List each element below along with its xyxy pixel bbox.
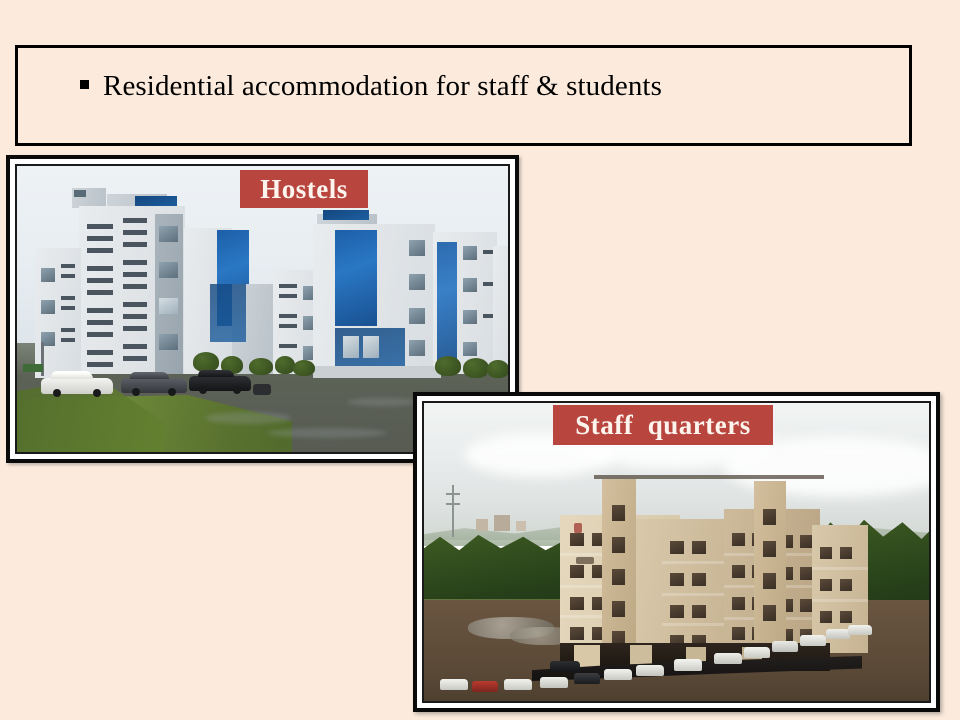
shrub bbox=[293, 360, 315, 376]
shrub bbox=[487, 360, 508, 378]
shrub bbox=[249, 358, 273, 375]
car bbox=[800, 635, 826, 646]
pylon-arm bbox=[446, 493, 460, 495]
car bbox=[826, 629, 850, 639]
stairwell-tower bbox=[754, 481, 786, 659]
shrub bbox=[435, 356, 461, 376]
entry-glazing bbox=[210, 284, 246, 342]
car bbox=[744, 647, 770, 658]
header-text-box: Residential accommodation for staff & st… bbox=[15, 45, 912, 146]
slide-canvas: Residential accommodation for staff & st… bbox=[0, 0, 960, 720]
header-bullet-line: Residential accommodation for staff & st… bbox=[80, 70, 662, 103]
caption-hostels: Hostels bbox=[240, 170, 368, 208]
car-red bbox=[472, 681, 498, 692]
car bbox=[550, 661, 580, 672]
stairwell-tower bbox=[602, 479, 636, 663]
square-bullet-icon bbox=[80, 80, 89, 89]
motorbike bbox=[253, 384, 271, 395]
wet-patch bbox=[267, 428, 387, 438]
hostel-block-left-front bbox=[79, 206, 185, 374]
signboard bbox=[23, 364, 43, 372]
wet-patch bbox=[205, 412, 291, 424]
car-grey bbox=[121, 378, 187, 393]
caption-staff-quarters: Staff quarters bbox=[553, 405, 773, 445]
distant-building bbox=[476, 519, 488, 531]
entrance-plinth bbox=[313, 366, 441, 378]
roof-parapet-blue-right bbox=[323, 210, 369, 220]
car bbox=[848, 625, 872, 635]
distant-building bbox=[516, 521, 526, 531]
roof-vent bbox=[74, 190, 86, 197]
car bbox=[714, 653, 742, 664]
car bbox=[604, 669, 632, 680]
pylon-arm bbox=[446, 503, 460, 505]
roof-railing bbox=[594, 475, 824, 479]
car bbox=[540, 677, 568, 688]
car bbox=[674, 659, 702, 671]
hostel-block-right-wing bbox=[433, 232, 497, 374]
hostel-edge-wall bbox=[493, 246, 508, 374]
car bbox=[772, 641, 798, 652]
staff-quarters-photo bbox=[424, 403, 929, 701]
car-black bbox=[189, 376, 251, 391]
header-title: Residential accommodation for staff & st… bbox=[103, 70, 662, 103]
hostel-block-right bbox=[313, 224, 435, 374]
shrub bbox=[463, 358, 489, 378]
car bbox=[574, 673, 600, 684]
quarters-block-b bbox=[636, 519, 732, 661]
wet-patch bbox=[347, 398, 417, 406]
car-white bbox=[41, 378, 113, 394]
people-on-balcony bbox=[576, 557, 594, 564]
car bbox=[504, 679, 532, 690]
balcony-cloth bbox=[574, 523, 582, 533]
shrub bbox=[275, 356, 295, 374]
car bbox=[636, 665, 664, 676]
car bbox=[440, 679, 468, 690]
distant-building bbox=[494, 515, 510, 531]
